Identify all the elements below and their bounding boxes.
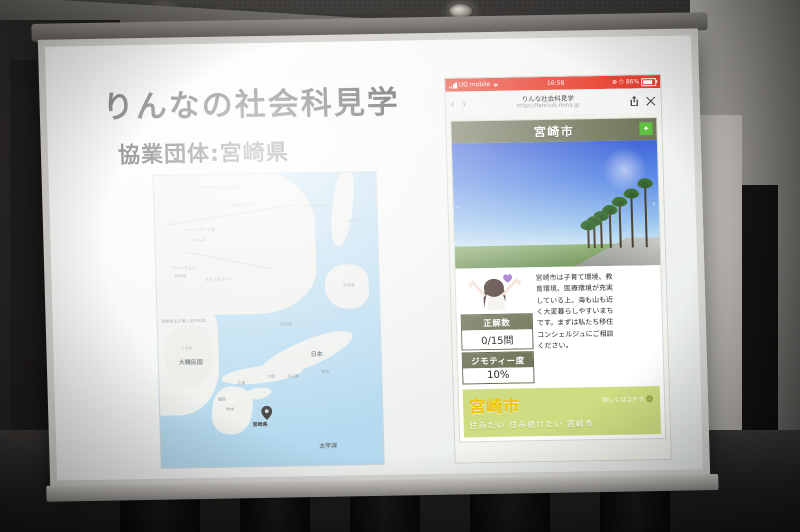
rinna-character-illustration bbox=[459, 271, 532, 312]
map-label: ソウル bbox=[180, 345, 192, 351]
wifi-icon bbox=[492, 81, 499, 87]
chevron-left-icon[interactable]: ‹ bbox=[451, 98, 455, 110]
browser-url-text: https://fanclub.rinna.jp bbox=[471, 102, 625, 111]
stat-correct-answers: 正解数 0/15問 bbox=[461, 313, 534, 350]
map-marker-label: 宮崎県 bbox=[253, 421, 268, 428]
location-icon: ⊕ bbox=[612, 79, 617, 86]
nav-arrows: ‹ › bbox=[451, 98, 467, 110]
url-actions bbox=[630, 95, 656, 106]
city-description-text: 宮崎市は子育て環境、教育環境、医療環境が充実している上、海も山も近く大変暮らしや… bbox=[535, 269, 659, 383]
stat-local-level: ジモティー度 10% bbox=[462, 351, 535, 384]
stat-label: ジモティー度 bbox=[463, 352, 533, 368]
map-label: チャンチュン bbox=[172, 265, 196, 271]
carrier-label: UQ mobile bbox=[459, 81, 491, 89]
map-label: 太平洋 bbox=[319, 441, 337, 450]
map-label: ブラゴヴェシチェンスク bbox=[198, 184, 242, 191]
share-icon[interactable] bbox=[630, 95, 639, 106]
projector-screen: りんなの社会科見学 協業団体:宮崎県 bbox=[38, 28, 710, 487]
map-label: 吉林省 bbox=[174, 273, 186, 279]
palm-tree bbox=[644, 185, 648, 247]
banner-link-label: 詳しくはコチラ bbox=[602, 394, 644, 404]
battery-percent: 86% bbox=[626, 78, 640, 85]
map-label: ビロビジャン bbox=[230, 202, 254, 208]
chevron-right-icon[interactable]: › bbox=[462, 98, 466, 110]
map-image[interactable]: ハバロフスクブラゴヴェシチェンスクビロビジャンヘイロンチアン省ジャムスチャンチュ… bbox=[153, 171, 385, 469]
banner-tagline: 住みたい 住み続けたい 宮崎市 bbox=[470, 417, 655, 431]
map-label: ジャムス bbox=[189, 237, 205, 243]
description-line: ください。 bbox=[537, 339, 658, 352]
map-label: 熊本 bbox=[226, 406, 234, 412]
carousel-next-icon[interactable]: › bbox=[652, 198, 655, 208]
map-label: 大韓民国 bbox=[179, 357, 203, 366]
carousel-prev-icon[interactable]: ‹ bbox=[456, 201, 459, 211]
map-label: 日本 bbox=[311, 349, 323, 358]
city-banner[interactable]: 宮崎市 詳しくはコチラ › 住みたい 住み続けたい 宮崎市 bbox=[463, 386, 661, 437]
status-left-group: UQ mobile bbox=[449, 81, 499, 89]
map-label: 福岡 bbox=[218, 397, 226, 403]
page-title: りんなの社会科見学 bbox=[102, 77, 400, 127]
map-label: ハバロフスク bbox=[302, 203, 326, 209]
map-label: サハリン bbox=[347, 218, 363, 224]
palm-tree bbox=[630, 195, 633, 247]
info-left-column: 正解数 0/15問 ジモティー度 10% bbox=[459, 271, 534, 384]
map-label: 東京 bbox=[321, 369, 329, 375]
map-label: ウラジオストク bbox=[204, 276, 232, 282]
map-label: 広島 bbox=[237, 380, 245, 386]
stat-value: 10% bbox=[463, 367, 533, 383]
status-right-group: ⊕ ⏱ 86% bbox=[612, 78, 656, 87]
palm-tree bbox=[609, 212, 612, 248]
map-marker-pin[interactable] bbox=[261, 406, 272, 420]
phone-screenshot: UQ mobile 16:58 ⊕ ⏱ 86% bbox=[444, 74, 672, 464]
url-center[interactable]: りんな社会科見学 https://fanclub.rinna.jp bbox=[471, 94, 625, 110]
signal-bars-icon bbox=[449, 82, 457, 88]
card-header-title: 宮崎市 bbox=[534, 122, 575, 140]
close-icon[interactable] bbox=[646, 96, 656, 106]
map-label: ヘイロンチアン省 bbox=[183, 227, 215, 234]
web-page-content: 宮崎市 ✦ bbox=[446, 113, 671, 463]
map-label: 大阪 bbox=[267, 374, 275, 380]
stat-label: 正解数 bbox=[462, 314, 532, 330]
city-card: 宮崎市 ✦ bbox=[450, 117, 666, 442]
stat-value: 0/15問 bbox=[462, 329, 533, 349]
palm-tree bbox=[619, 204, 622, 248]
battery-icon bbox=[641, 78, 656, 86]
banner-detail-link[interactable]: 詳しくはコチラ › bbox=[602, 394, 653, 404]
status-time: 16:58 bbox=[547, 80, 564, 87]
hero-photo: ‹ › bbox=[452, 140, 660, 269]
info-block: 正解数 0/15問 ジモティー度 10% 宮崎市は子育て環境、教育環境、医療環境… bbox=[455, 265, 663, 387]
map-label: 名古屋 bbox=[287, 373, 299, 379]
alarm-icon: ⏱ bbox=[619, 78, 624, 86]
slide-subtitle: 協業団体:宮崎県 bbox=[118, 134, 290, 169]
puzzle-icon[interactable]: ✦ bbox=[639, 122, 652, 135]
arrow-circle-icon: › bbox=[646, 395, 653, 402]
map-label: 日本海 bbox=[280, 321, 292, 327]
photo-scene: りんなの社会科見学 協業団体:宮崎県 bbox=[0, 0, 800, 532]
presentation-slide: りんなの社会科見学 協業団体:宮崎県 bbox=[45, 35, 703, 480]
palm-tree bbox=[587, 227, 590, 248]
map-label: 朝鮮民主主義人民共和国 bbox=[162, 318, 206, 325]
map-label: 北海道 bbox=[343, 282, 355, 288]
